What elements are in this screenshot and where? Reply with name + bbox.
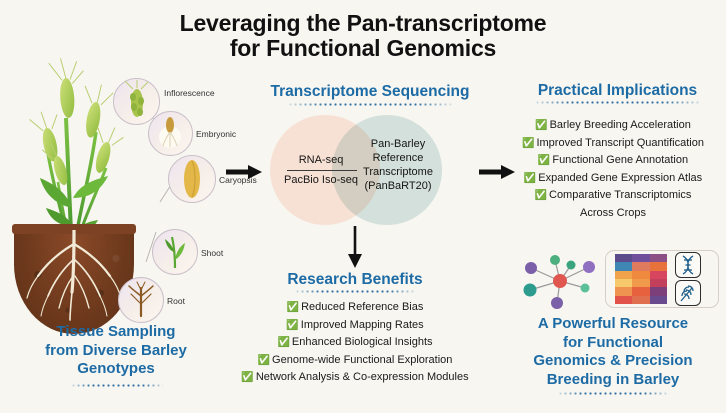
center-heading: Transcriptome Sequencing [258, 83, 482, 101]
tissue-label-shoot: Shoot [201, 248, 223, 258]
benefits-list-item[interactable]: ✅Improved Mapping Rates [240, 317, 470, 335]
tissue-label-root: Root [167, 296, 185, 306]
embryo-icon [149, 112, 192, 155]
right-caption: A Powerful Resource for Functional Genom… [500, 315, 726, 389]
implications-item-label: Improved Transcript Quantification [536, 137, 704, 149]
benefits-item-label: Enhanced Biological Insights [292, 336, 433, 348]
benefits-item-label: Improved Mapping Rates [301, 319, 424, 331]
check-circle-icon: ✅ [286, 320, 298, 331]
benefits-list-item[interactable]: ✅Reduced Reference Bias [240, 299, 470, 317]
implications-list-item[interactable]: ✅Comparative Transcriptomics [500, 187, 726, 205]
right-caption-line-4: Breeding in Barley [500, 371, 726, 390]
arrow-venn-to-benefits [345, 226, 365, 270]
check-circle-icon: ✅ [535, 190, 547, 201]
root-branch-icon [119, 278, 163, 322]
implications-list-item[interactable]: ✅Functional Gene Annotation [500, 152, 726, 170]
infographic-canvas: Leveraging the Pan-transcriptome for Fun… [0, 0, 726, 413]
dna-helix-icon[interactable] [675, 252, 701, 278]
implications-item-label: Comparative Transcriptomics [549, 189, 691, 201]
check-circle-icon: ✅ [535, 120, 547, 131]
venn-diagram: RNA-seq PacBio Iso-seq Pan-Barley Refere… [270, 115, 485, 225]
right-heading-underline [535, 101, 701, 104]
check-circle-icon: ✅ [241, 372, 253, 383]
left-caption-line-1: Tissue Sampling [6, 323, 226, 342]
implications-item-label: Expanded Gene Expression Atlas [538, 172, 702, 184]
benefits-list: ✅Reduced Reference Bias ✅Improved Mappin… [240, 299, 470, 387]
check-circle-icon: ✅ [522, 138, 534, 149]
venn-right-line-1: Pan-Barley [350, 137, 446, 151]
left-caption: Tissue Sampling from Diverse Barley Geno… [6, 323, 226, 379]
right-heading: Practical Implications [515, 82, 720, 100]
check-circle-icon: ✅ [277, 337, 289, 348]
implications-item-label: Barley Breeding Acceleration [550, 119, 691, 131]
tissue-circle-root[interactable] [118, 277, 164, 323]
venn-right-line-3: Transcriptome [350, 165, 446, 179]
benefits-list-item[interactable]: ✅Enhanced Biological Insights [240, 334, 470, 352]
dna-helix-svg [676, 253, 700, 277]
tissue-circle-embryonic[interactable] [148, 111, 193, 156]
benefits-list-item[interactable]: ✅Network Analysis & Co-expression Module… [240, 369, 470, 387]
arrow-plant-to-venn [226, 162, 266, 182]
grain-seed-icon [169, 156, 215, 202]
wheat-spike-svg [676, 281, 700, 305]
tissue-label-embryonic: Embryonic [196, 129, 236, 139]
wheat-spike-icon[interactable] [675, 280, 701, 306]
benefits-item-label: Reduced Reference Bias [301, 301, 423, 313]
venn-divider [287, 170, 357, 171]
tissue-circle-shoot[interactable] [152, 229, 198, 275]
shoot-leaf-icon [153, 230, 197, 274]
venn-right-line-2: Reference [350, 151, 446, 165]
tissue-label-inflorescence: Inflorescence [164, 88, 215, 98]
check-circle-icon: ✅ [258, 355, 270, 366]
left-caption-line-3: Genotypes [6, 360, 226, 379]
implications-list-item[interactable]: ✅Expanded Gene Expression Atlas [500, 170, 726, 188]
left-caption-line-2: from Diverse Barley [6, 342, 226, 361]
check-circle-icon: ✅ [538, 155, 550, 166]
right-icon-cluster [505, 250, 720, 312]
title-line-1: Leveraging the Pan-transcriptome [0, 11, 726, 36]
center-heading-underline [288, 103, 452, 106]
implications-list-item[interactable]: ✅Barley Breeding Acceleration [500, 117, 726, 135]
venn-right-line-4: (PanBaRT20) [350, 179, 446, 193]
implications-item-label: Functional Gene Annotation [552, 154, 688, 166]
check-circle-icon: ✅ [524, 173, 536, 184]
heatmap-icon [615, 254, 667, 304]
page-title: Leveraging the Pan-transcriptome for Fun… [0, 11, 726, 61]
check-circle-icon: ✅ [287, 302, 299, 313]
right-caption-line-3: Genomics & Precision [500, 352, 726, 371]
left-caption-underline [71, 384, 163, 387]
right-caption-line-2: for Functional [500, 334, 726, 353]
tissue-circle-caryopsis[interactable] [168, 155, 216, 203]
right-caption-line-1: A Powerful Resource [500, 315, 726, 334]
benefits-item-label: Network Analysis & Co-expression Modules [256, 371, 469, 383]
benefits-heading: Research Benefits [255, 271, 455, 289]
right-caption-underline [558, 392, 668, 395]
benefits-heading-underline [295, 290, 415, 293]
benefits-item-label: Genome-wide Functional Exploration [272, 354, 452, 366]
implications-item-wrap: Across Crops [500, 205, 726, 223]
implications-list: ✅Barley Breeding Acceleration ✅Improved … [500, 117, 726, 222]
benefits-list-item[interactable]: ✅Genome-wide Functional Exploration [240, 352, 470, 370]
network-graph-icon [515, 252, 605, 310]
implications-list-item[interactable]: ✅Improved Transcript Quantification [500, 135, 726, 153]
